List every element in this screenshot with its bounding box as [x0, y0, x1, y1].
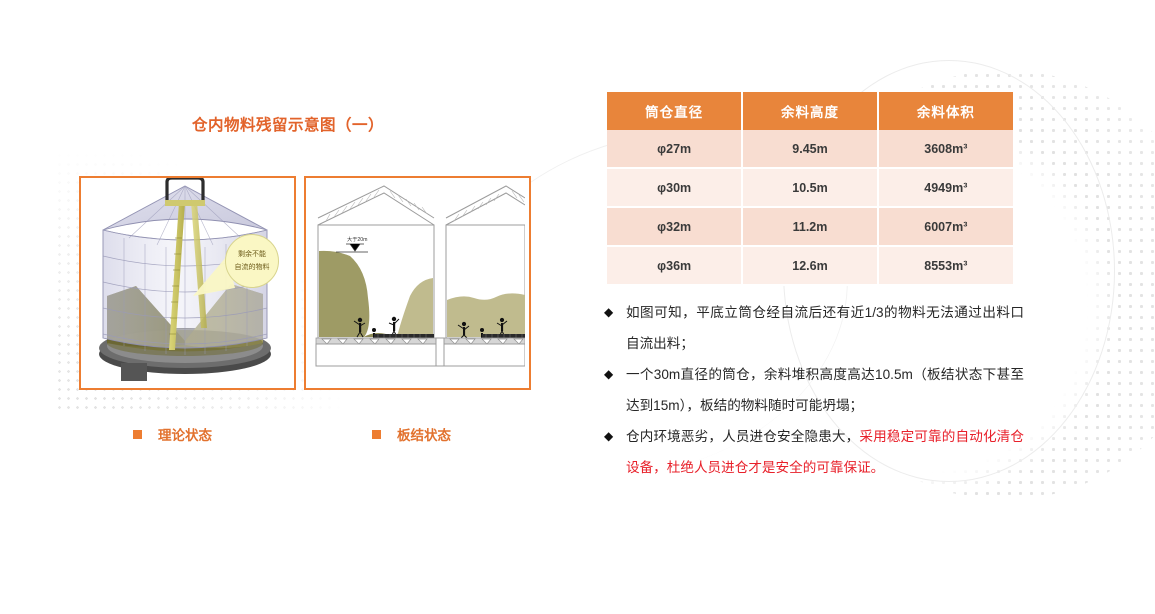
caption-caked-state: 板结状态: [372, 424, 451, 444]
column-header-diameter: 筒仓直径: [607, 92, 742, 130]
square-bullet-icon: [372, 430, 381, 439]
cell-diameter: φ30m: [607, 168, 742, 207]
residual-material-table-wrapper: 筒仓直径 余料高度 余料体积 φ27m 9.45m 3608m³ φ30m 10…: [607, 92, 1013, 286]
diamond-bullet-icon: ◆: [604, 421, 613, 452]
column-header-volume: 余料体积: [878, 92, 1013, 130]
bullet-text: 仓内环境恶劣，人员进仓安全隐患大，: [626, 429, 859, 444]
bullet-item-3: ◆ 仓内环境恶劣，人员进仓安全隐患大，采用稳定可靠的自动化清仓设备，杜绝人员进仓…: [604, 421, 1024, 483]
panel-theoretical-state: 剩余不能 自流的物料: [79, 176, 296, 390]
table-row: φ32m 11.2m 6007m³: [607, 207, 1013, 246]
table-row: φ36m 12.6m 8553m³: [607, 246, 1013, 285]
cell-diameter: φ32m: [607, 207, 742, 246]
residual-material-table: 筒仓直径 余料高度 余料体积 φ27m 9.45m 3608m³ φ30m 10…: [607, 92, 1013, 286]
cell-height: 11.2m: [742, 207, 877, 246]
caption-label: 理论状态: [158, 428, 212, 443]
table-row: φ27m 9.45m 3608m³: [607, 130, 1013, 168]
cell-diameter: φ27m: [607, 130, 742, 168]
square-bullet-icon: [133, 430, 142, 439]
column-header-height: 余料高度: [742, 92, 877, 130]
cell-volume: 8553m³: [878, 246, 1013, 285]
diamond-bullet-icon: ◆: [604, 359, 613, 390]
callout-line-2: 自流的物料: [235, 261, 270, 274]
page-title: 仓内物料残留示意图（一）: [192, 113, 384, 135]
callout-bubble: 剩余不能 自流的物料: [225, 234, 279, 288]
cell-volume: 3608m³: [878, 130, 1013, 168]
diamond-bullet-icon: ◆: [604, 297, 613, 328]
cell-height: 10.5m: [742, 168, 877, 207]
table-row: φ30m 10.5m 4949m³: [607, 168, 1013, 207]
cell-height: 9.45m: [742, 130, 877, 168]
conclusion-bullet-list: ◆ 如图可知，平底立筒仓经自流后还有近1/3的物料无法通过出料口自流出料； ◆ …: [604, 297, 1024, 483]
callout-line-1: 剩余不能: [238, 248, 266, 261]
bullet-text: 一个30m直径的筒仓，余料堆积高度高达10.5m（板结状态下甚至达到15m），板…: [626, 367, 1024, 413]
panel-caked-state: 大于20m: [304, 176, 531, 390]
caption-theoretical-state: 理论状态: [133, 424, 212, 444]
caption-label: 板结状态: [397, 428, 451, 443]
bullet-text: 如图可知，平底立筒仓经自流后还有近1/3的物料无法通过出料口自流出料；: [626, 305, 1024, 351]
cell-volume: 6007m³: [878, 207, 1013, 246]
cell-height: 12.6m: [742, 246, 877, 285]
cell-diameter: φ36m: [607, 246, 742, 285]
dimension-label: 大于20m: [347, 235, 367, 243]
bullet-item-2: ◆ 一个30m直径的筒仓，余料堆积高度高达10.5m（板结状态下甚至达到15m）…: [604, 359, 1024, 421]
illustration-column: 仓内物料残留示意图（一）: [0, 0, 560, 614]
bullet-item-1: ◆ 如图可知，平底立筒仓经自流后还有近1/3的物料无法通过出料口自流出料；: [604, 297, 1024, 359]
silo-cross-section-illustration: 大于20m: [306, 178, 525, 384]
cell-volume: 4949m³: [878, 168, 1013, 207]
table-header-row: 筒仓直径 余料高度 余料体积: [607, 92, 1013, 130]
